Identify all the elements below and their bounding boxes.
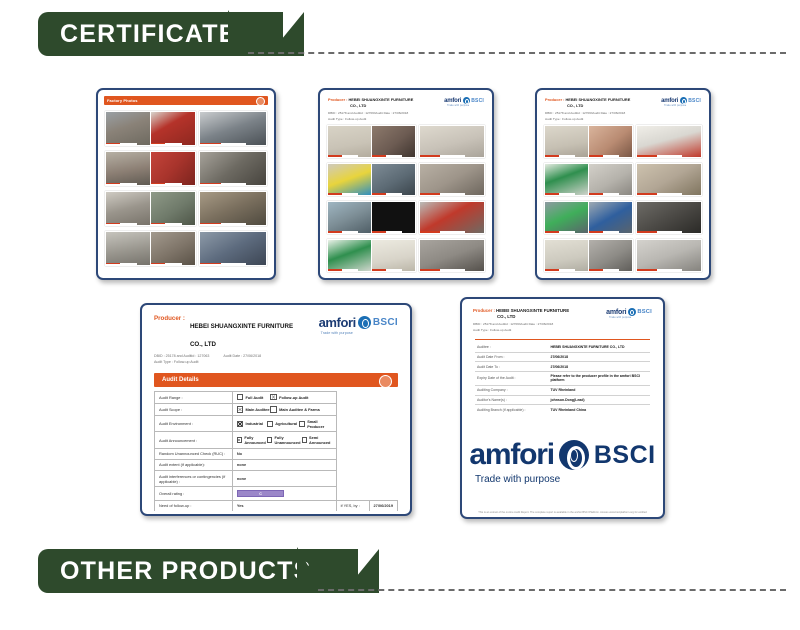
- checkbox-label: Small Producer: [307, 419, 331, 429]
- table-row: Audit Date From :27/06/2018: [475, 352, 650, 362]
- producer-meta-line-2: Audit Type : Follow-up Audit: [473, 328, 569, 332]
- row-label: Auditing Branch (if applicable) :: [475, 405, 549, 414]
- certificate-section-header: CERTIFICATE: [0, 10, 800, 58]
- fine-print-line: This is an extract of the on-line Audit …: [477, 511, 648, 514]
- producer-name: HEBEI SHUANGXINTE FURNITURE: [496, 308, 569, 313]
- row-value: 27/06/2018: [549, 362, 651, 372]
- row-label: Auditing Company :: [475, 385, 549, 395]
- photo-thumbnail: [420, 164, 484, 195]
- row-value: Please refer to the producer profile in …: [549, 372, 651, 386]
- photo-row: [419, 201, 485, 234]
- producer-meta-line-1: DBID : 25178 and Auditid : 127063Audit D…: [545, 111, 630, 115]
- table-row: Audit interferences or contingencies (if…: [155, 471, 398, 487]
- producer-dbid: DBID : 25178 and Auditid : 127063: [473, 322, 521, 326]
- table-row: Auditee :HEBEI SHUANGXINTE FURNITURE CO.…: [475, 343, 650, 352]
- certificate-dashed-rule: [248, 52, 786, 54]
- document-card-factory-photos[interactable]: Factory Photos: [96, 88, 276, 280]
- row-value: TUV Rheinland: [549, 385, 651, 395]
- table-row: Auditor's Name(s) :johnson.Dong(Lead): [475, 395, 650, 405]
- photo-grid: [540, 123, 706, 274]
- amfori-wordmark: amfori: [319, 315, 356, 330]
- producer-name-line2: CO., LTD: [497, 314, 515, 319]
- row-value: Yes: [232, 500, 336, 511]
- document-page: Producer : HEBEI SHUANGXINTE FURNITURE C…: [145, 308, 407, 511]
- amfori-tagline: Trade with purpose: [447, 104, 484, 107]
- photo-row: [544, 239, 633, 272]
- row-value: Industrial Agricultural Small Producer: [232, 416, 336, 432]
- photo-thumbnail: [637, 240, 701, 271]
- document-page: Producer : HEBEI SHUANGXINTE FURNITURE C…: [540, 93, 706, 275]
- checkbox-option[interactable]: Semi Announced: [302, 435, 332, 445]
- producer-name-line2: CO., LTD: [567, 103, 583, 108]
- factory-photos-header-bar: Factory Photos: [104, 96, 268, 105]
- amfori-tagline: Trade with purpose: [321, 331, 353, 335]
- producer-info: Producer : HEBEI SHUANGXINTE FURNITURE C…: [154, 315, 293, 366]
- photo-row: [419, 163, 485, 196]
- producer-meta-line-1: DBID : 25178 and Auditid : 127063Audit D…: [473, 322, 569, 326]
- document-page: Producer : HEBEI SHUANGXINTE FURNITURE C…: [465, 302, 660, 514]
- checkbox-label: Main Auditee: [246, 407, 270, 412]
- row-value: Fully Announced Fully Unannounced Semi A…: [232, 432, 336, 448]
- row-value: Full Audit Follow-up Audit: [232, 391, 336, 403]
- checkbox-checked-icon[interactable]: [270, 394, 276, 400]
- photo-row: [419, 125, 485, 158]
- photo-row: [327, 125, 416, 158]
- checkbox-option[interactable]: Full Audit: [237, 394, 271, 400]
- producer-dbid: DBID : 25178 and Auditid : 127063: [545, 111, 593, 115]
- checkbox-checked-icon[interactable]: [237, 437, 242, 443]
- checkbox-option[interactable]: Fully Announced: [237, 435, 267, 445]
- table-row: Auditing Company :TUV Rheinland: [475, 385, 650, 395]
- photo-thumbnail: [589, 202, 632, 233]
- audit-report-header: Producer : HEBEI SHUANGXINTE FURNITURE C…: [145, 308, 407, 369]
- producer-dbid: DBID : 25178 and Auditid : 127063: [328, 111, 376, 115]
- checkbox-option[interactable]: Fully Unannounced: [267, 435, 302, 445]
- producer-label: Producer :: [545, 97, 564, 102]
- bsci-wordmark: BSCI: [637, 309, 652, 315]
- row-label: Audit Environment :: [155, 416, 233, 432]
- photo-thumbnail: [200, 232, 266, 265]
- amfori-seal-icon: [256, 97, 265, 106]
- producer-header: Producer : HEBEI SHUANGXINTE FURNITURE C…: [540, 93, 706, 123]
- amfori-ring-icon: [358, 316, 371, 329]
- checkbox-option[interactable]: Follow-up Audit: [270, 394, 331, 400]
- divider: [475, 339, 650, 340]
- row-value: TUV Rheinland China: [549, 405, 651, 414]
- checkbox-icon[interactable]: [299, 421, 305, 427]
- photo-thumbnail: [328, 202, 371, 233]
- photo-column-left: [544, 125, 633, 272]
- bsci-wordmark: BSCI: [594, 441, 656, 470]
- producer-name-line2: CO., LTD: [190, 341, 216, 348]
- table-row: Random Unannounced Check (RUC) : No: [155, 448, 398, 459]
- photo-thumbnail: [106, 192, 150, 225]
- photo-row: [199, 111, 267, 146]
- producer-header: Producer : HEBEI SHUANGXINTE FURNITURE C…: [465, 302, 660, 335]
- amfori-tagline: Trade with purpose: [609, 316, 652, 319]
- document-page: Producer : HEBEI SHUANGXINTE FURNITURE C…: [323, 93, 489, 275]
- photo-column-right: [636, 125, 702, 272]
- producer-name: HEBEI SHUANGXINTE FURNITURE: [348, 97, 413, 102]
- table-row: Need of follow-up : Yes if YES, by : 27/…: [155, 500, 398, 511]
- photo-thumbnail: [372, 240, 415, 271]
- photo-thumbnail: [151, 232, 195, 265]
- document-card-certificate[interactable]: Producer : HEBEI SHUANGXINTE FURNITURE C…: [460, 297, 665, 519]
- photo-row: [105, 231, 196, 266]
- document-card-audit-photos-b[interactable]: Producer : HEBEI SHUANGXINTE FURNITURE C…: [535, 88, 711, 280]
- photo-thumbnail: [106, 112, 150, 145]
- photo-thumbnail: [420, 202, 484, 233]
- photo-row: [105, 111, 196, 146]
- photo-row: [327, 239, 416, 272]
- row-label: Auditee :: [475, 343, 549, 352]
- checkbox-icon[interactable]: [267, 437, 272, 443]
- row-label: Expiry Date of the Audit :: [475, 372, 549, 386]
- photo-thumbnail: [151, 112, 195, 145]
- overall-rating-value: C: [238, 491, 284, 497]
- photo-thumbnail: [545, 240, 588, 271]
- certificate-title: CERTIFICATE: [60, 20, 237, 49]
- row-label: Audit Date From :: [475, 352, 549, 362]
- photo-grid: [323, 123, 489, 274]
- producer-meta-line-1: DBID : 25178 and Auditid : 127063Audit D…: [328, 111, 413, 115]
- checkbox-label: Agricultural: [275, 421, 297, 426]
- photo-row: [199, 231, 267, 266]
- photo-row: [327, 201, 416, 234]
- amfori-wordmark: amfori: [444, 98, 461, 104]
- producer-meta-line-2: Audit Type : Follow-up Audit: [328, 117, 413, 121]
- table-row: Overall rating : C: [155, 487, 398, 501]
- producer-audit-date: Audit Date : 27/06/2018: [521, 322, 554, 326]
- row-value: No: [232, 448, 336, 459]
- amfori-ring-icon: [628, 308, 636, 316]
- photo-thumbnail: [200, 192, 266, 225]
- checkbox-option[interactable]: Industrial: [237, 419, 267, 429]
- table-row: Auditing Branch (if applicable) :TUV Rhe…: [475, 405, 650, 414]
- checkbox-label: Full Audit: [246, 395, 264, 400]
- other-products-title: OTHER PRODUCTS: [60, 557, 312, 586]
- row-sub-label: if YES, by :: [336, 500, 369, 511]
- producer-label: Producer :: [473, 308, 495, 313]
- audit-details-table: Audit Range : Full Audit Follow-up Audit…: [154, 391, 398, 512]
- row-value: none: [232, 459, 336, 470]
- row-label: Need of follow-up :: [155, 500, 233, 511]
- row-label: Random Unannounced Check (RUC) :: [155, 448, 233, 459]
- row-label: Audit Date To :: [475, 362, 549, 372]
- photo-thumbnail: [420, 240, 484, 271]
- photo-thumbnail: [328, 164, 371, 195]
- producer-audit-date: Audit Date : 27/06/2018: [376, 111, 409, 115]
- photo-thumbnail: [106, 232, 150, 265]
- audit-details-title: Audit Details: [162, 377, 199, 383]
- photo-grid: [101, 109, 271, 268]
- producer-header: Producer : HEBEI SHUANGXINTE FURNITURE C…: [323, 93, 489, 123]
- photo-thumbnail: [151, 192, 195, 225]
- amfori-wordmark: amfori: [606, 309, 626, 316]
- row-label: Overall rating :: [155, 487, 233, 501]
- table-row: Audit Range : Full Audit Follow-up Audit: [155, 391, 398, 403]
- row-label: Audit Scope :: [155, 403, 233, 415]
- producer-meta-line-1: DBID : 25178 and Auditid : 127063Audit D…: [154, 354, 293, 360]
- row-value: 27/06/2018: [549, 352, 651, 362]
- amfori-tagline: Trade with purpose: [475, 474, 560, 485]
- document-card-audit-photos-a[interactable]: Producer : HEBEI SHUANGXINTE FURNITURE C…: [318, 88, 494, 280]
- checkbox-label: Semi Announced: [309, 435, 332, 445]
- row-value: none: [232, 471, 336, 487]
- photo-thumbnail: [106, 152, 150, 185]
- photo-thumbnail: [420, 126, 484, 157]
- row-label: Auditor's Name(s) :: [475, 395, 549, 405]
- checkbox-icon[interactable]: [267, 421, 273, 427]
- photo-row: [636, 125, 702, 158]
- document-page: Factory Photos: [101, 93, 271, 275]
- photo-row: [544, 125, 633, 158]
- photo-thumbnail: [200, 112, 266, 145]
- producer-meta-line-2: Audit Type : Follow-up Audit: [154, 360, 293, 366]
- table-row: Audit Environment : Industrial Agricultu…: [155, 416, 398, 432]
- photo-thumbnail: [200, 152, 266, 185]
- amfori-ring-icon: [680, 97, 687, 104]
- photo-thumbnail: [589, 126, 632, 157]
- checkbox-label: Main Auditee & Farms: [279, 407, 320, 412]
- photo-thumbnail: [151, 152, 195, 185]
- photo-column-left: [327, 125, 416, 272]
- amfori-tagline: Trade with purpose: [664, 104, 701, 107]
- row-label: Audit extent (if applicable):: [155, 459, 233, 470]
- certificate-table: Auditee :HEBEI SHUANGXINTE FURNITURE CO.…: [475, 343, 650, 414]
- checkbox-option[interactable]: Main Auditee: [237, 406, 271, 412]
- photo-row: [105, 151, 196, 186]
- amfori-bsci-logo-small: amfori BSCI Trade with purpose: [444, 97, 484, 107]
- photo-thumbnail: [589, 164, 632, 195]
- photo-row: [636, 201, 702, 234]
- checkbox-icon[interactable]: [302, 437, 307, 443]
- photo-thumbnail: [372, 126, 415, 157]
- producer-info: Producer : HEBEI SHUANGXINTE FURNITURE C…: [473, 308, 569, 333]
- producer-audit-date: Audit Date : 27/06/2018: [593, 111, 626, 115]
- amfori-ring-icon: [559, 440, 589, 470]
- photo-column-right: [419, 125, 485, 272]
- bsci-wordmark: BSCI: [471, 98, 484, 104]
- factory-photos-header-label: Factory Photos: [104, 98, 138, 103]
- producer-info: Producer : HEBEI SHUANGXINTE FURNITURE C…: [328, 97, 413, 121]
- producer-label: Producer :: [154, 315, 185, 322]
- photo-thumbnail: [545, 164, 588, 195]
- bsci-wordmark: BSCI: [373, 317, 398, 328]
- checkbox-option[interactable]: Small Producer: [299, 419, 332, 429]
- photo-row: [544, 163, 633, 196]
- amfori-seal-icon: [379, 375, 392, 388]
- checkbox-icon[interactable]: [270, 406, 276, 412]
- amfori-wordmark: amfori: [661, 98, 678, 104]
- photo-row: [199, 151, 267, 186]
- checkbox-option[interactable]: Main Auditee & Farms: [270, 406, 331, 412]
- row-value: C: [232, 487, 336, 501]
- row-value: Main Auditee Main Auditee & Farms: [232, 403, 336, 415]
- amfori-wordmark: amfori: [469, 438, 554, 472]
- table-row: Audit extent (if applicable): none: [155, 459, 398, 470]
- photo-row: [636, 163, 702, 196]
- checkbox-checked-icon[interactable]: [237, 406, 243, 412]
- overall-rating-bar: C: [237, 490, 285, 498]
- table-row: Audit Scope : Main Auditee Main Auditee …: [155, 403, 398, 415]
- producer-meta-line-2: Audit Type : Follow-up Audit: [545, 117, 630, 121]
- photo-thumbnail: [637, 164, 701, 195]
- amfori-ring-icon: [463, 97, 470, 104]
- photo-thumbnail: [545, 126, 588, 157]
- checkbox-icon[interactable]: [237, 394, 243, 400]
- row-sub-value: 27/06/2019: [369, 500, 397, 511]
- row-value: johnson.Dong(Lead): [549, 395, 651, 405]
- photo-row: [419, 239, 485, 272]
- bsci-wordmark: BSCI: [688, 98, 701, 104]
- table-row: Audit Announcement : Fully Announced Ful…: [155, 432, 398, 448]
- producer-name-line2: CO., LTD: [350, 103, 366, 108]
- checkbox-option[interactable]: Agricultural: [267, 419, 300, 429]
- producer-info: Producer : HEBEI SHUANGXINTE FURNITURE C…: [545, 97, 630, 121]
- photo-row: [636, 239, 702, 272]
- producer-name: HEBEI SHUANGXINTE FURNITURE: [565, 97, 630, 102]
- other-products-section-header: OTHER PRODUCTS: [0, 547, 800, 595]
- photo-thumbnail: [328, 240, 371, 271]
- photo-column-left: [105, 111, 196, 266]
- table-row: Expiry Date of the Audit :Please refer t…: [475, 372, 650, 386]
- row-label: Audit interferences or contingencies (if…: [155, 471, 233, 487]
- photo-row: [544, 201, 633, 234]
- document-card-audit-report[interactable]: Producer : HEBEI SHUANGXINTE FURNITURE C…: [140, 303, 412, 516]
- checkbox-label: Follow-up Audit: [279, 395, 308, 400]
- fine-print: This is an extract of the on-line Audit …: [477, 511, 648, 514]
- photo-thumbnail: [328, 126, 371, 157]
- photo-thumbnail: [589, 240, 632, 271]
- checkbox-label: Fully Unannounced: [275, 435, 302, 445]
- photo-row: [199, 191, 267, 226]
- photo-thumbnail: [637, 202, 701, 233]
- certificate-banner-slash: [228, 10, 254, 54]
- row-label: Audit Announcement :: [155, 432, 233, 448]
- photo-thumbnail: [372, 164, 415, 195]
- photo-thumbnail: [372, 202, 415, 233]
- table-row: Audit Date To :27/06/2018: [475, 362, 650, 372]
- checkbox-checked-icon[interactable]: [237, 421, 243, 427]
- row-value: HEBEI SHUANGXINTE FURNITURE CO., LTD: [549, 343, 651, 352]
- producer-label: Producer :: [328, 97, 347, 102]
- checkbox-label: Industrial: [246, 421, 264, 426]
- photo-row: [105, 191, 196, 226]
- photo-column-right: [199, 111, 267, 266]
- producer-audit-date: Audit Date : 27/06/2018: [223, 354, 261, 358]
- producer-dbid: DBID : 25178 and Auditid : 127063: [154, 354, 209, 358]
- other-products-banner-slash: [297, 547, 323, 591]
- amfori-bsci-logo-small: amfori BSCI Trade with purpose: [606, 308, 652, 319]
- amfori-bsci-logo-small: amfori BSCI Trade with purpose: [661, 97, 701, 107]
- amfori-bsci-logo: amfori BSCI Trade with purpose: [319, 315, 398, 335]
- other-products-dashed-rule: [318, 589, 786, 591]
- photo-row: [327, 163, 416, 196]
- amfori-bsci-logo-large: amfori BSCI Trade with purpose: [465, 438, 660, 485]
- photo-thumbnail: [637, 126, 701, 157]
- photo-thumbnail: [545, 202, 588, 233]
- audit-details-section-bar: Audit Details: [154, 373, 398, 387]
- row-label: Audit Range :: [155, 391, 233, 403]
- checkbox-label: Fully Announced: [244, 435, 267, 445]
- producer-name: HEBEI SHUANGXINTE FURNITURE: [190, 323, 293, 330]
